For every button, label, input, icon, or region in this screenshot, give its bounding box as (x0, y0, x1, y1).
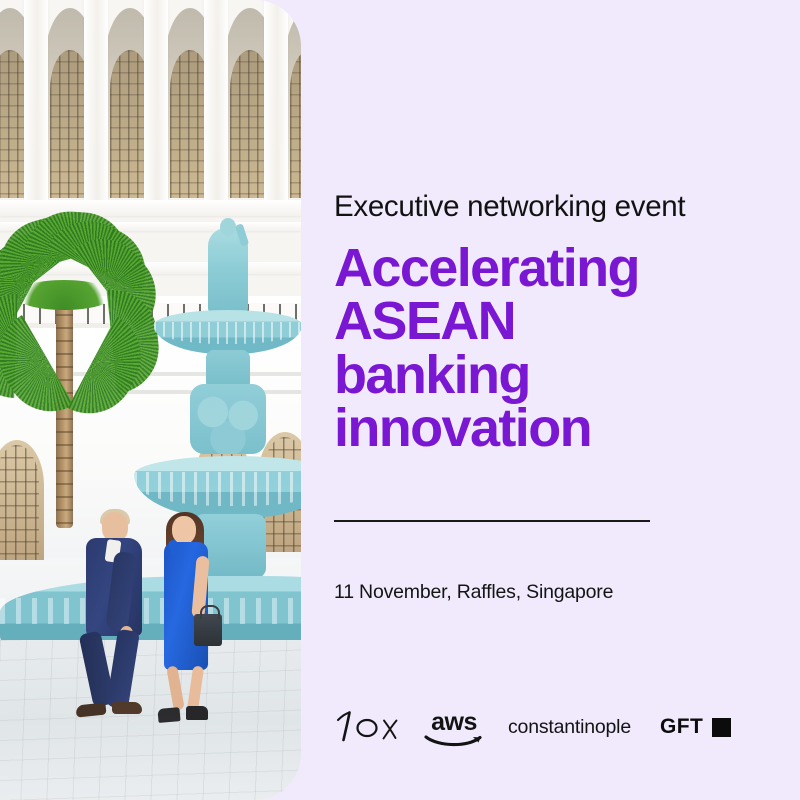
headline-line-1: Accelerating (334, 242, 754, 295)
headline-line-2: ASEAN (334, 295, 754, 348)
gft-wordmark: GFT (660, 715, 703, 739)
event-date-location: 11 November, Raffles, Singapore (334, 581, 613, 604)
partner-logo-row: aws constantinople GFT (334, 704, 758, 750)
page-title: Accelerating ASEAN banking innovation (334, 242, 754, 456)
event-poster: Executive networking event Accelerating … (0, 0, 800, 800)
hero-photo-panel (0, 0, 301, 800)
fountain-statue (208, 228, 248, 314)
svg-text:aws: aws (431, 708, 477, 736)
svg-text:constantinople: constantinople (508, 716, 631, 738)
photo-scene (0, 0, 301, 800)
logo-10x[interactable] (334, 704, 406, 750)
logo-gft[interactable]: GFT (660, 704, 731, 750)
divider (334, 520, 650, 522)
logo-aws[interactable]: aws (420, 704, 488, 750)
poster-content: Executive networking event Accelerating … (334, 0, 758, 800)
event-kicker: Executive networking event (334, 190, 685, 223)
palm-tree (0, 196, 154, 526)
person-woman-blue-dress (150, 516, 230, 724)
headline-line-4: innovation (334, 402, 754, 455)
logo-constantinople[interactable]: constantinople (508, 704, 648, 750)
headline-line-3: banking (334, 349, 754, 402)
handbag (194, 614, 222, 646)
gft-square-mark (712, 718, 731, 737)
